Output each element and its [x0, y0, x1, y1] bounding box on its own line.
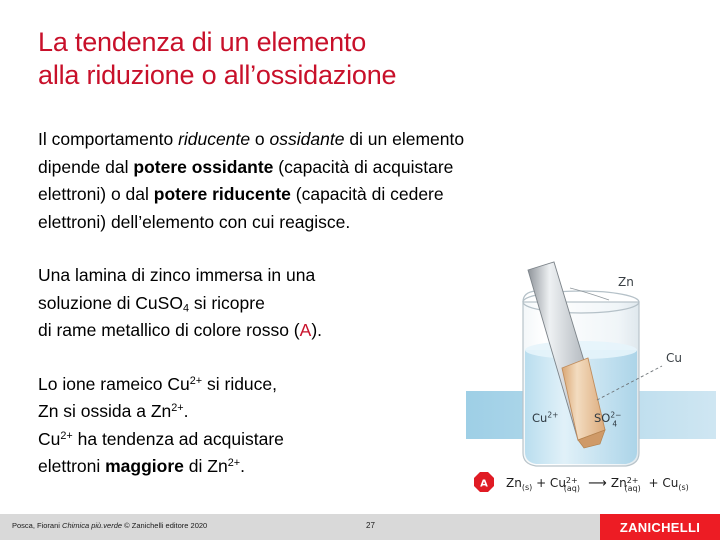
beaker-illustration: Zn Cu Cu2+ SO2−4 A Zn(s) + Cu2+(aq) ⟶ Zn…: [466, 258, 716, 510]
paragraph-1: Il comportamento riducente o ossidante d…: [38, 126, 678, 236]
zanichelli-logo-text: ZANICHELLI: [620, 520, 700, 535]
paragraph-1-line-1: Il comportamento riducente o ossidante d…: [38, 126, 678, 154]
p2-line2-seg1: soluzione di CuSO: [38, 293, 183, 313]
page-title: La tendenza di un elemento alla riduzion…: [38, 26, 678, 92]
p3-sup-zn2: 2+: [228, 457, 240, 469]
p3-line2-seg2: .: [184, 401, 189, 421]
p3-line1-seg2: si riduce,: [202, 374, 277, 394]
p3-line1-seg1: Lo ione rameico Cu: [38, 374, 190, 394]
p1-seg2: o: [250, 129, 269, 149]
p2-ref-a: A: [300, 320, 312, 340]
paragraph-1-line-2: dipende dal potere ossidante (capacità d…: [38, 154, 678, 182]
paragraph-2-line-1: Una lamina di zinco immersa in una: [38, 262, 468, 290]
p3-line3-seg1: Cu: [38, 429, 60, 449]
title-line-2: alla riduzione o all’ossidazione: [38, 59, 678, 92]
paragraph-3-line-4: elettroni maggiore di Zn2+.: [38, 453, 468, 481]
paragraph-3: Lo ione rameico Cu2+ si riduce, Zn si os…: [38, 371, 468, 481]
reaction-equation: Zn(s) + Cu2+(aq) ⟶ Zn2+(aq) + Cu(s): [506, 476, 689, 493]
page-number: 27: [366, 521, 375, 530]
paragraph-1-line-4: elettroni) dell’elemento con cui reagisc…: [38, 209, 678, 237]
p1-em-riducente: riducente: [178, 129, 250, 149]
beaker-svg: Zn Cu Cu2+ SO2−4 A Zn(s) + Cu2+(aq) ⟶ Zn…: [466, 258, 716, 510]
p3-sup-cu: 2+: [190, 375, 202, 387]
p1-em-ossidante: ossidante: [270, 129, 345, 149]
p2-line3-seg2: ).: [311, 320, 322, 340]
p3-sup-zn: 2+: [171, 402, 183, 414]
label-cu: Cu: [666, 351, 682, 365]
p3-bold-maggiore: maggiore: [105, 456, 184, 476]
footer-credit-pre: Posca, Fiorani: [12, 521, 62, 530]
p1-bold-potere-ossidante: potere ossidante: [133, 157, 273, 177]
p1-seg1: Il comportamento: [38, 129, 178, 149]
p1-line2-seg1: dipende dal: [38, 157, 133, 177]
badge-a-label: A: [480, 479, 488, 490]
p3-sup-cu2: 2+: [60, 430, 72, 442]
p3-line3-seg2: ha tendenza ad acquistare: [73, 429, 284, 449]
p1-line3-seg2: (capacità di cedere: [291, 184, 444, 204]
p3-line4-seg1: elettroni: [38, 456, 105, 476]
zanichelli-logo: ZANICHELLI: [600, 514, 720, 540]
paragraph-2-line-3: di rame metallico di colore rosso (A).: [38, 317, 468, 345]
p3-line4-seg3: .: [240, 456, 245, 476]
paragraph-2-line-2: soluzione di CuSO4 si ricopre: [38, 290, 468, 318]
p1-bold-potere-riducente: potere riducente: [154, 184, 291, 204]
p3-line4-seg2: di Zn: [184, 456, 228, 476]
paragraph-3-line-2: Zn si ossida a Zn2+.: [38, 398, 468, 426]
p3-line2-seg1: Zn si ossida a Zn: [38, 401, 171, 421]
paragraph-1-line-3: elettroni) o dal potere riducente (capac…: [38, 181, 678, 209]
paragraph-3-line-3: Cu2+ ha tendenza ad acquistare: [38, 426, 468, 454]
paragraph-2: Una lamina di zinco immersa in una soluz…: [38, 262, 468, 345]
title-line-1: La tendenza di un elemento: [38, 26, 678, 59]
p1-seg3: di un elemento: [344, 129, 464, 149]
footer-bar: Posca, Fiorani Chimica più.verde © Zanic…: [0, 514, 720, 540]
paragraph-3-line-1: Lo ione rameico Cu2+ si riduce,: [38, 371, 468, 399]
label-zn: Zn: [618, 275, 634, 289]
footer-credit: Posca, Fiorani Chimica più.verde © Zanic…: [12, 521, 207, 530]
p1-line2-seg2: (capacità di acquistare: [273, 157, 453, 177]
p2-line3-seg1: di rame metallico di colore rosso (: [38, 320, 300, 340]
slide: La tendenza di un elemento alla riduzion…: [0, 0, 720, 540]
footer-credit-title: Chimica più.verde: [62, 521, 122, 530]
footer-credit-post: © Zanichelli editore 2020: [122, 521, 207, 530]
zn-leader-line: [570, 288, 609, 300]
p2-line2-seg2: si ricopre: [189, 293, 265, 313]
p1-line3-seg1: elettroni) o dal: [38, 184, 154, 204]
